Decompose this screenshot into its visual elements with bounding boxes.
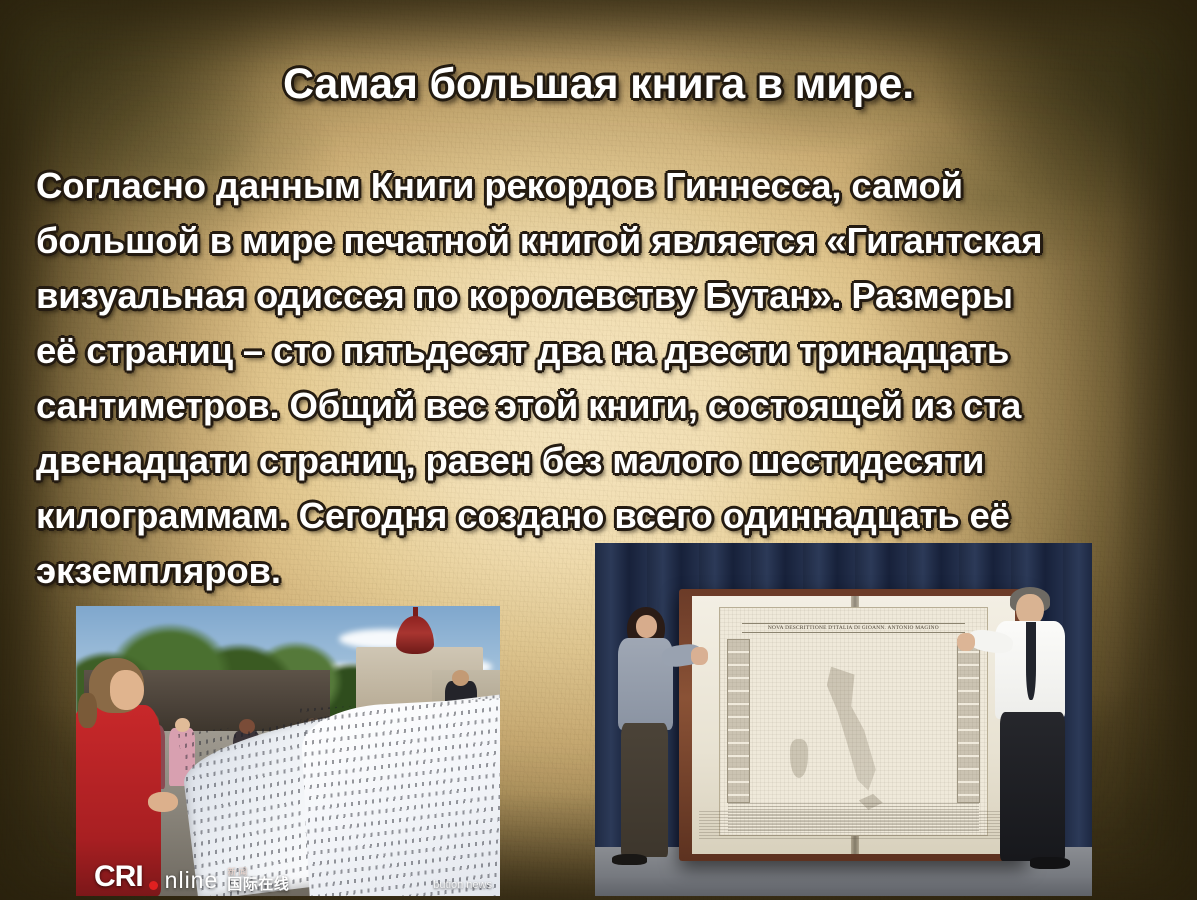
person-trousers: [621, 723, 668, 857]
person-shoe: [612, 854, 647, 865]
person-hand: [691, 647, 708, 665]
page-body-text: [699, 811, 1007, 839]
body-line: килограммам. Сегодня создано всего одинн…: [36, 488, 1121, 543]
person-face: [110, 670, 144, 711]
body-line: Согласно данным Книги рекордов Гиннесса,…: [36, 158, 1121, 213]
map-side-panel-right: [957, 639, 980, 803]
person-shoe: [1030, 857, 1070, 869]
body-text-block: Согласно данным Книги рекордов Гиннесса,…: [36, 158, 1121, 598]
photo-giant-atlas: NOVA DESCRITTIONE D'ITALIA DI GIOANN. AN…: [595, 543, 1092, 896]
person-braid: [78, 693, 97, 728]
photo-giant-letter: CRI nline 新闻 国际在线 bution news: [76, 606, 500, 896]
letter-text-lines: [300, 695, 500, 896]
body-line: сантиметров. Общий вес этой книги, состо…: [36, 378, 1121, 433]
body-line: двенадцати страниц, равен без малого шес…: [36, 433, 1121, 488]
slide-root: Самая большая книга в мире. Согласно дан…: [0, 0, 1197, 900]
body-line: её страниц – сто пятьдесят два на двести…: [36, 323, 1121, 378]
person-hand: [148, 792, 178, 812]
body-line: визуальная одиссея по королевству Бутан»…: [36, 268, 1121, 323]
person-face: [636, 615, 657, 638]
watermark-corner-text: bution news: [433, 879, 492, 891]
body-line: большой в мире печатной книгой является …: [36, 213, 1121, 268]
giant-letter-sheet-back: [300, 695, 500, 896]
map-caption: NOVA DESCRITTIONE D'ITALIA DI GIOANN. AN…: [742, 623, 966, 633]
person-trousers: [1000, 712, 1065, 860]
map-side-panel-left: [727, 639, 750, 803]
person-necktie: [1026, 622, 1036, 700]
antique-map: NOVA DESCRITTIONE D'ITALIA DI GIOANN. AN…: [719, 607, 987, 836]
person-hand: [957, 633, 975, 651]
page-title: Самая большая книга в мире.: [0, 62, 1197, 107]
